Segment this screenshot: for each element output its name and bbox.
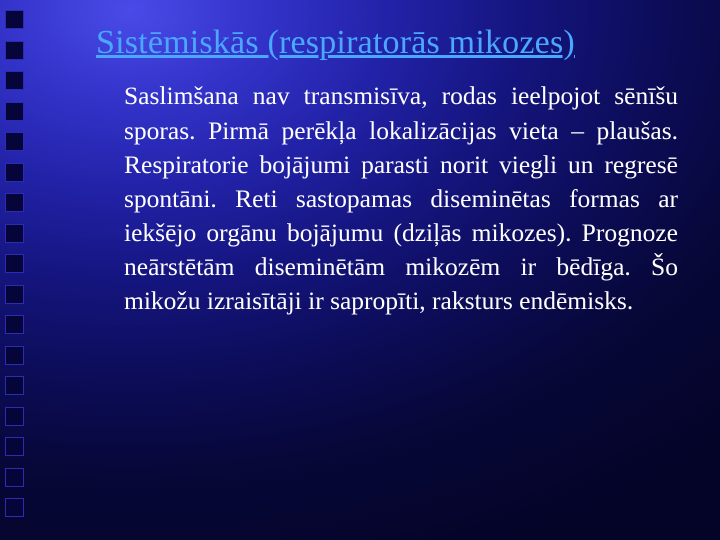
film-perforation (5, 376, 24, 395)
film-perforation (5, 285, 24, 304)
slide-body-text: Saslimšana nav transmisīva, rodas ieelpo… (124, 79, 678, 317)
film-strip-decoration (0, 0, 30, 540)
slide-canvas: Sistēmiskās (respiratorās mikozes) Sasli… (0, 0, 720, 540)
film-perforation (5, 346, 24, 365)
film-perforation (5, 498, 24, 517)
film-perforation (5, 132, 24, 151)
film-perforation (5, 10, 24, 29)
film-perforation (5, 468, 24, 487)
film-perforation (5, 193, 24, 212)
slide-title: Sistēmiskās (respiratorās mikozes) (96, 22, 696, 63)
film-perforation (5, 437, 24, 456)
film-perforation (5, 315, 24, 334)
film-perforation (5, 254, 24, 273)
slide-body-block: Saslimšana nav transmisīva, rodas ieelpo… (96, 79, 696, 317)
film-perforation (5, 407, 24, 426)
film-perforation (5, 224, 24, 243)
film-perforation (5, 163, 24, 182)
film-perforation (5, 41, 24, 60)
film-perforation (5, 102, 24, 121)
slide-content: Sistēmiskās (respiratorās mikozes) Sasli… (96, 22, 696, 318)
film-perforation (5, 71, 24, 90)
